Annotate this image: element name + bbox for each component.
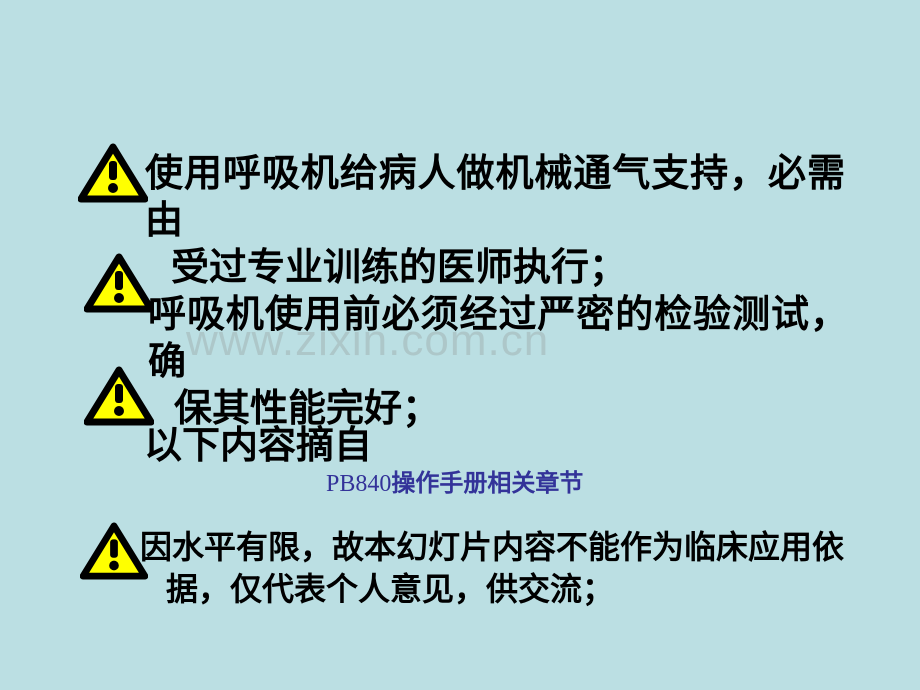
- bullet-1-text: 使用呼吸机给病人做机械通气支持，必需由 受过专业训练的医师执行；: [145, 151, 845, 292]
- slide-canvas: www.zixin.com.cn 使用呼吸机给病人做机械通气支持，必需由 受过专…: [0, 0, 920, 690]
- slide-content: 使用呼吸机给病人做机械通气支持，必需由 受过专业训练的医师执行； 呼吸机使用前必…: [0, 0, 920, 690]
- source-reference-model: PB840: [326, 471, 391, 497]
- bullet-4-line-2: 据，仅代表个人意见，供交流；: [140, 568, 860, 610]
- bullet-2-text: 呼吸机使用前必须经过严密的检验测试，确 保其性能完好；: [148, 292, 848, 433]
- bullet-1-line-2: 受过专业训练的医师执行；: [145, 245, 845, 292]
- source-reference-chapter: 操作手册相关章节: [391, 470, 583, 497]
- warning-triangle-icon: [78, 143, 148, 203]
- bullet-1-line-1: 使用呼吸机给病人做机械通气支持，必需由: [145, 151, 845, 245]
- bullet-4-text: 因水平有限，故本幻灯片内容不能作为临床应用依 据，仅代表个人意见，供交流；: [140, 526, 860, 610]
- source-reference: PB840操作手册相关章节: [326, 469, 583, 499]
- warning-triangle-icon: [84, 253, 154, 313]
- warning-triangle-icon: [84, 366, 154, 426]
- bullet-2-line-1: 呼吸机使用前必须经过严密的检验测试，确: [148, 292, 848, 386]
- warning-triangle-icon: [80, 522, 148, 580]
- bullet-4-line-1: 因水平有限，故本幻灯片内容不能作为临床应用依: [140, 526, 860, 568]
- bullet-3-line-1: 以下内容摘自: [144, 423, 372, 470]
